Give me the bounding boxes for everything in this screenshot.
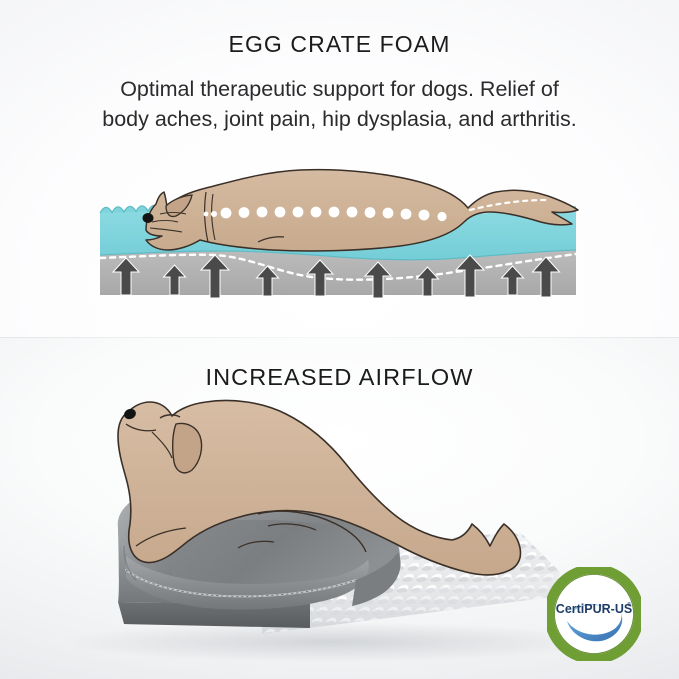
egg-crate-foam-title: EGG CRATE FOAM: [0, 31, 679, 58]
dog-on-foam-cross-section-illustration: [0, 150, 679, 330]
bed-shadow: [62, 622, 598, 662]
subtitle-line-2: body aches, joint pain, hip dysplasia, a…: [36, 104, 643, 134]
certipur-us-badge: CONTAINS CERTIFIED FLEXIBLE POLYURETHANE…: [547, 567, 641, 661]
egg-crate-foam-subtitle: Optimal therapeutic support for dogs. Re…: [36, 74, 643, 134]
badge-brand-text: CertiPUR-US: [556, 602, 632, 616]
subtitle-line-1: Optimal therapeutic support for dogs. Re…: [36, 74, 643, 104]
badge-trademark-symbol: ®: [627, 601, 631, 608]
infographic-page: EGG CRATE FOAM Optimal therapeutic suppo…: [0, 0, 679, 679]
increased-airflow-title: INCREASED AIRFLOW: [0, 364, 679, 391]
